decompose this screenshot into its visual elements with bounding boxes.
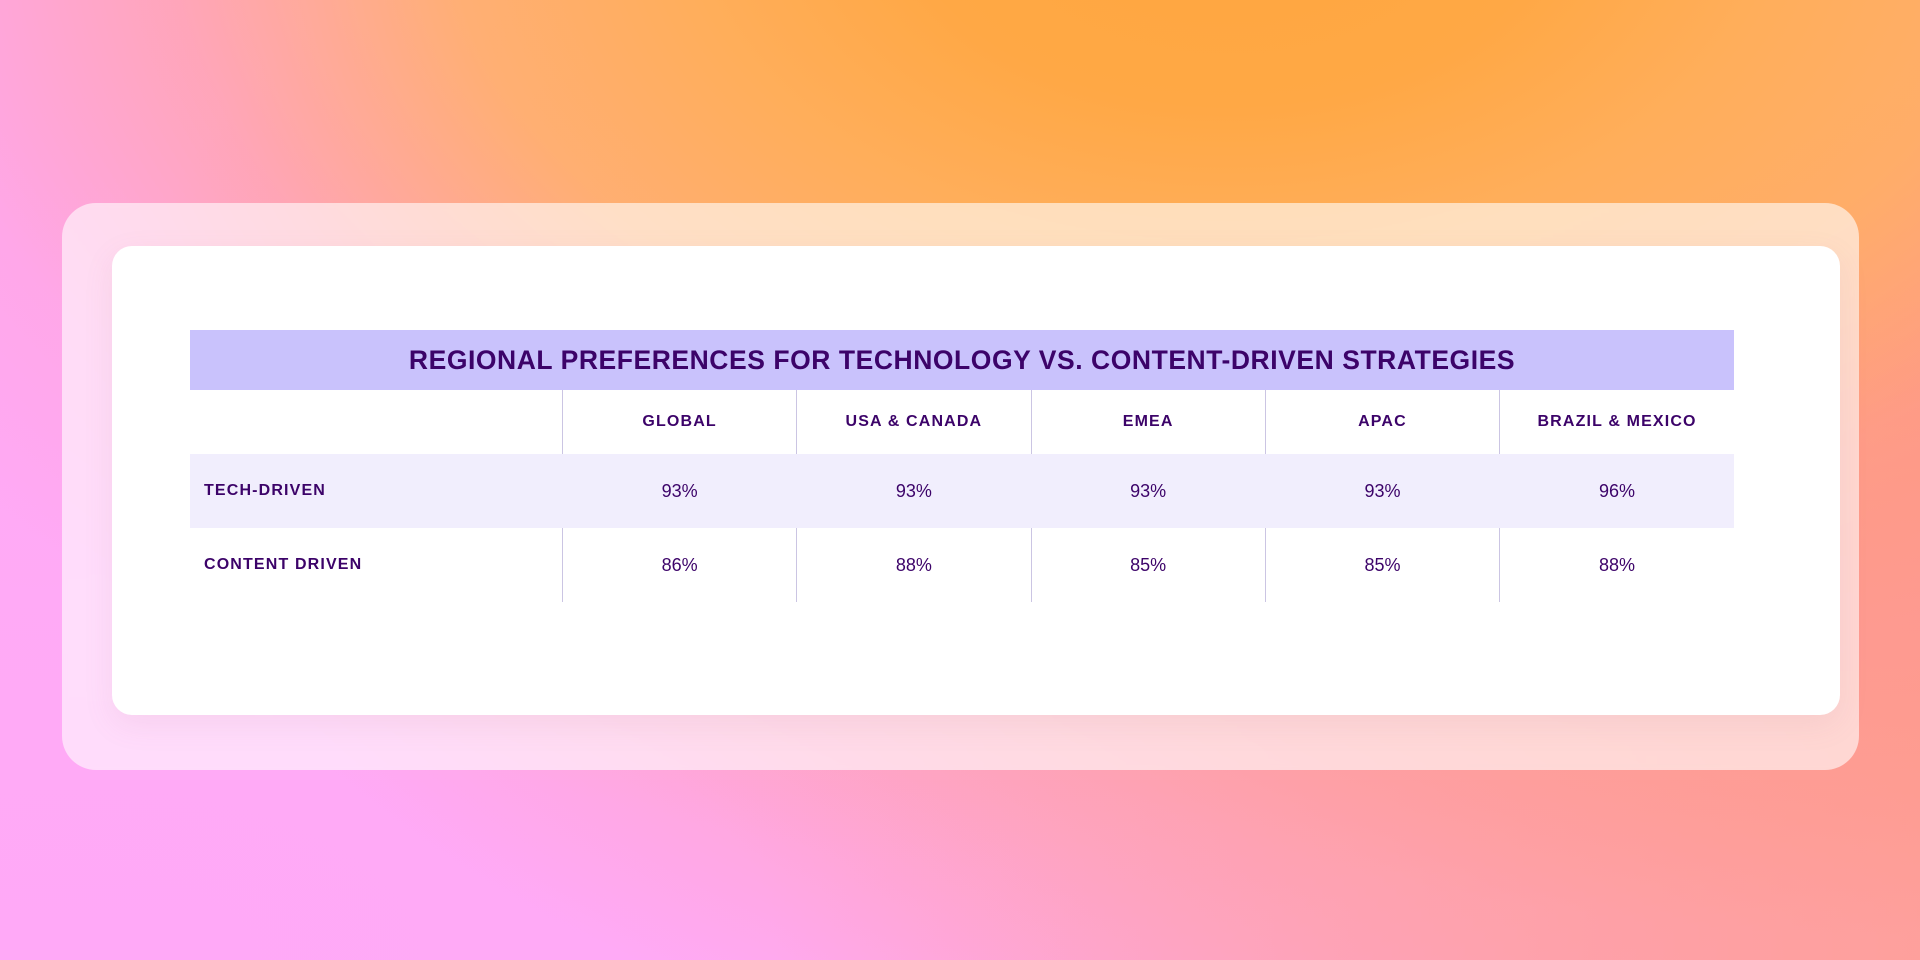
cell-tech-driven-apac: 93%: [1265, 454, 1499, 528]
cell-content-driven-apac: 85%: [1265, 528, 1499, 602]
cell-content-driven-usa-canada: 88%: [797, 528, 1031, 602]
cell-content-driven-global: 86%: [562, 528, 796, 602]
column-header-emea: EMEA: [1031, 390, 1265, 454]
column-header-apac: APAC: [1265, 390, 1499, 454]
cell-tech-driven-brazil-mexico: 96%: [1500, 454, 1734, 528]
column-header-global: GLOBAL: [562, 390, 796, 454]
table-container: REGIONAL PREFERENCES FOR TECHNOLOGY VS. …: [190, 330, 1734, 602]
table-row: CONTENT DRIVEN 86% 88% 85% 85% 88%: [190, 528, 1734, 602]
cell-content-driven-brazil-mexico: 88%: [1500, 528, 1734, 602]
regional-preferences-table: REGIONAL PREFERENCES FOR TECHNOLOGY VS. …: [190, 330, 1734, 602]
row-label-content-driven: CONTENT DRIVEN: [190, 528, 562, 602]
cell-tech-driven-emea: 93%: [1031, 454, 1265, 528]
header-corner-cell: [190, 390, 562, 454]
row-label-tech-driven: TECH-DRIVEN: [190, 454, 562, 528]
content-card: REGIONAL PREFERENCES FOR TECHNOLOGY VS. …: [112, 246, 1840, 715]
cell-tech-driven-global: 93%: [562, 454, 796, 528]
cell-content-driven-emea: 85%: [1031, 528, 1265, 602]
cell-tech-driven-usa-canada: 93%: [797, 454, 1031, 528]
column-header-usa-canada: USA & CANADA: [797, 390, 1031, 454]
table-title: REGIONAL PREFERENCES FOR TECHNOLOGY VS. …: [190, 330, 1734, 390]
table-header-row: GLOBAL USA & CANADA EMEA APAC BRAZIL & M…: [190, 390, 1734, 454]
table-row: TECH-DRIVEN 93% 93% 93% 93% 96%: [190, 454, 1734, 528]
column-header-brazil-mexico: BRAZIL & MEXICO: [1500, 390, 1734, 454]
table-title-row: REGIONAL PREFERENCES FOR TECHNOLOGY VS. …: [190, 330, 1734, 390]
